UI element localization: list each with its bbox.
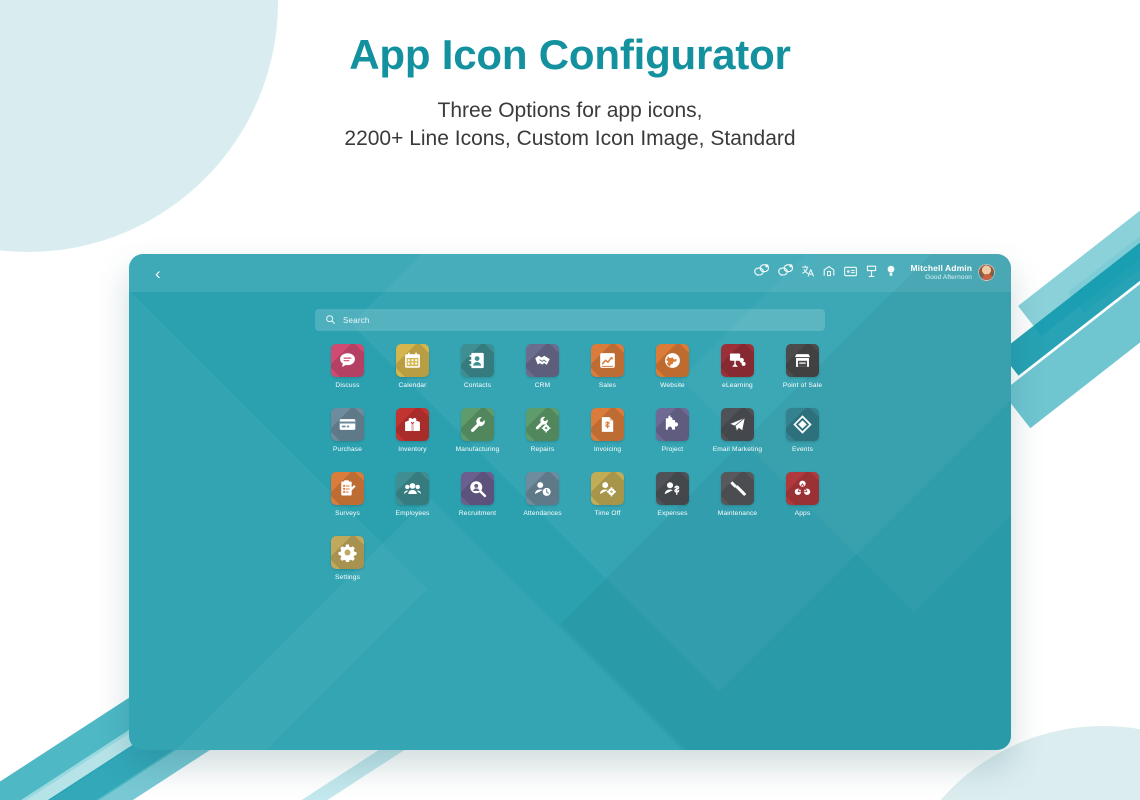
person-gear-icon[interactable] bbox=[591, 472, 624, 505]
app-item-point-of-sale[interactable]: Point of Sale bbox=[770, 344, 835, 389]
chart-up-icon[interactable] bbox=[591, 344, 624, 377]
app-label: Repairs bbox=[531, 446, 555, 453]
user-greeting: Good Afternoon bbox=[925, 274, 972, 281]
page-title: App Icon Configurator bbox=[0, 0, 1140, 79]
activities-icon[interactable] bbox=[778, 264, 793, 282]
page-subtitle-line1: Three Options for app icons, bbox=[438, 99, 703, 122]
app-item-sales[interactable]: Sales bbox=[575, 344, 640, 389]
user-info: Mitchell Admin Good Afternoon bbox=[910, 264, 972, 281]
app-item-repairs[interactable]: Repairs bbox=[510, 408, 575, 453]
user-name: Mitchell Admin bbox=[910, 264, 972, 274]
window-header: ‹ bbox=[129, 254, 1011, 292]
presentation-icon[interactable] bbox=[721, 344, 754, 377]
app-label: Surveys bbox=[335, 510, 360, 517]
app-label: Invoicing bbox=[594, 446, 621, 453]
app-label: Email Marketing bbox=[713, 446, 763, 453]
hammer-icon[interactable] bbox=[721, 472, 754, 505]
app-label: Apps bbox=[795, 510, 811, 517]
app-label: eLearning bbox=[722, 382, 753, 389]
card-icon[interactable] bbox=[844, 264, 857, 282]
app-label: Maintenance bbox=[718, 510, 757, 517]
user-menu[interactable]: Mitchell Admin Good Afternoon bbox=[910, 264, 995, 281]
app-label: Employees bbox=[396, 510, 430, 517]
gear-icon[interactable] bbox=[331, 536, 364, 569]
app-label: Point of Sale bbox=[783, 382, 822, 389]
page-heading: App Icon Configurator Three Options for … bbox=[0, 0, 1140, 153]
app-window: ‹ bbox=[129, 254, 1011, 750]
app-item-expenses[interactable]: Expenses bbox=[640, 472, 705, 517]
app-item-recruitment[interactable]: Recruitment bbox=[445, 472, 510, 517]
app-item-purchase[interactable]: Purchase bbox=[315, 408, 380, 453]
app-item-inventory[interactable]: Inventory bbox=[380, 408, 445, 453]
app-item-elearning[interactable]: eLearning bbox=[705, 344, 770, 389]
app-item-apps[interactable]: Apps bbox=[770, 472, 835, 517]
chat-icon[interactable] bbox=[331, 344, 364, 377]
app-label: CRM bbox=[535, 382, 550, 389]
app-label: Contacts bbox=[464, 382, 491, 389]
app-label: Recruitment bbox=[459, 510, 496, 517]
storefront-icon[interactable] bbox=[786, 344, 819, 377]
avatar[interactable] bbox=[978, 264, 995, 281]
search-input[interactable]: Search bbox=[315, 309, 825, 331]
signal-icon[interactable] bbox=[866, 264, 877, 282]
app-label: Calendar bbox=[399, 382, 427, 389]
person-clock-icon[interactable] bbox=[526, 472, 559, 505]
app-item-settings[interactable]: Settings bbox=[315, 536, 380, 581]
app-item-time-off[interactable]: Time Off bbox=[575, 472, 640, 517]
paper-plane-icon[interactable] bbox=[721, 408, 754, 441]
app-label: Project bbox=[662, 446, 684, 453]
app-label: Manufacturing bbox=[456, 446, 500, 453]
app-item-employees[interactable]: Employees bbox=[380, 472, 445, 517]
blocks-icon[interactable] bbox=[786, 472, 819, 505]
app-item-invoicing[interactable]: Invoicing bbox=[575, 408, 640, 453]
app-label: Settings bbox=[335, 574, 360, 581]
app-label: Website bbox=[660, 382, 685, 389]
app-item-email-marketing[interactable]: Email Marketing bbox=[705, 408, 770, 453]
app-grid: DiscussCalendarContactsCRMSalesWebsiteeL… bbox=[315, 344, 835, 581]
app-label: Inventory bbox=[398, 446, 426, 453]
page-subtitle: Three Options for app icons, 2200+ Line … bbox=[0, 79, 1140, 153]
messages-icon[interactable] bbox=[754, 264, 769, 282]
search-person-icon[interactable] bbox=[461, 472, 494, 505]
box-icon[interactable] bbox=[396, 408, 429, 441]
page-subtitle-line2: 2200+ Line Icons, Custom Icon Image, Sta… bbox=[344, 127, 795, 150]
app-item-discuss[interactable]: Discuss bbox=[315, 344, 380, 389]
app-item-website[interactable]: Website bbox=[640, 344, 705, 389]
people-icon[interactable] bbox=[396, 472, 429, 505]
calendar-icon[interactable] bbox=[396, 344, 429, 377]
app-item-project[interactable]: Project bbox=[640, 408, 705, 453]
search-icon bbox=[326, 311, 335, 329]
tip-icon[interactable] bbox=[886, 264, 896, 282]
credit-card-icon[interactable] bbox=[331, 408, 364, 441]
back-icon[interactable]: ‹ bbox=[155, 265, 161, 282]
wrench-icon[interactable] bbox=[461, 408, 494, 441]
app-label: Expenses bbox=[657, 510, 687, 517]
clipboard-icon[interactable] bbox=[331, 472, 364, 505]
handshake-icon[interactable] bbox=[526, 344, 559, 377]
app-item-surveys[interactable]: Surveys bbox=[315, 472, 380, 517]
app-item-calendar[interactable]: Calendar bbox=[380, 344, 445, 389]
puzzle-icon[interactable] bbox=[656, 408, 689, 441]
app-label: Purchase bbox=[333, 446, 362, 453]
invoice-icon[interactable] bbox=[591, 408, 624, 441]
person-money-icon[interactable] bbox=[656, 472, 689, 505]
translate-icon[interactable] bbox=[802, 264, 814, 282]
search-placeholder: Search bbox=[343, 316, 370, 325]
globe-icon[interactable] bbox=[656, 344, 689, 377]
contact-card-icon[interactable] bbox=[461, 344, 494, 377]
app-label: Time Off bbox=[594, 510, 620, 517]
company-icon[interactable] bbox=[823, 264, 835, 282]
wrench-gear-icon[interactable] bbox=[526, 408, 559, 441]
app-label: Sales bbox=[599, 382, 616, 389]
app-item-manufacturing[interactable]: Manufacturing bbox=[445, 408, 510, 453]
app-label: Attendances bbox=[523, 510, 561, 517]
app-label: Discuss bbox=[335, 382, 359, 389]
app-item-crm[interactable]: CRM bbox=[510, 344, 575, 389]
ticket-icon[interactable] bbox=[786, 408, 819, 441]
header-actions: Mitchell Admin Good Afternoon bbox=[754, 264, 995, 282]
app-item-events[interactable]: Events bbox=[770, 408, 835, 453]
app-item-attendances[interactable]: Attendances bbox=[510, 472, 575, 517]
app-item-maintenance[interactable]: Maintenance bbox=[705, 472, 770, 517]
app-label: Events bbox=[792, 446, 813, 453]
app-item-contacts[interactable]: Contacts bbox=[445, 344, 510, 389]
